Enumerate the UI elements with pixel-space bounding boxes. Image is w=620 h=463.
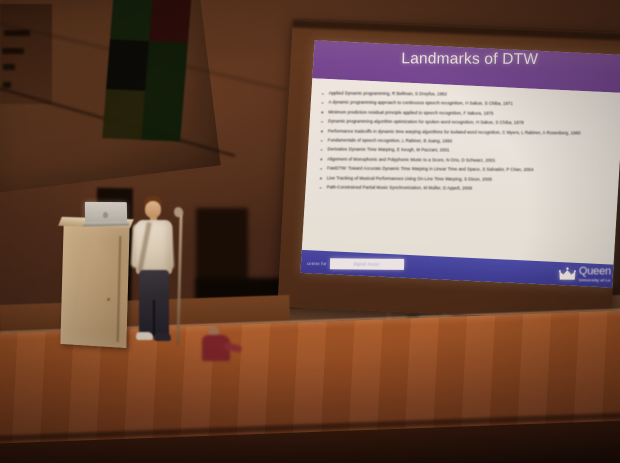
- list-item: A dynamic programming approach to contin…: [318, 100, 618, 108]
- slide-title: Landmarks of DTW: [313, 50, 620, 70]
- crown-icon: [559, 267, 576, 280]
- banner-tile: [141, 91, 184, 142]
- centre-for-digital-music-logo: centre for digital music: [307, 258, 404, 270]
- list-item: Fundamentals of speech recognition, L Ra…: [318, 137, 618, 145]
- slide-body: Applied Dynamic programming, R Bellman, …: [302, 78, 620, 264]
- list-item: Live Tracking of Musical Performances Us…: [317, 175, 617, 183]
- speaker-left-shoe: [136, 332, 153, 340]
- apple-logo-icon: [103, 212, 108, 218]
- organisation-subtitle: University of Lo: [579, 278, 611, 282]
- banner-tile: [145, 41, 188, 92]
- presentation-slide: Landmarks of DTW Applied Dynamic program…: [300, 40, 620, 287]
- lectern-knob: [107, 298, 110, 301]
- wall-poster: [0, 4, 52, 104]
- seated-attendee: [200, 326, 242, 368]
- speaker: [128, 196, 178, 348]
- checker-banner: [102, 0, 192, 142]
- list-item: Applied Dynamic programming, R Bellman, …: [319, 90, 619, 98]
- list-item: Dynamic programming algorithm optimizati…: [318, 119, 618, 127]
- centre-for-label: centre for: [307, 261, 327, 266]
- queen-mary-wordmark: Queen University of Lo: [579, 266, 611, 282]
- banner-tile: [110, 0, 153, 41]
- slide-bullet-list: Applied Dynamic programming, R Bellman, …: [317, 90, 619, 192]
- banner-tile: [149, 0, 192, 43]
- list-item: Performance tradeoffs in dynamic time wa…: [318, 128, 618, 136]
- speaker-trouser-seam: [153, 300, 155, 338]
- banner-tile: [102, 89, 145, 140]
- list-item: Path-Constrained Partial Music Synchroni…: [317, 184, 617, 192]
- list-item: Alignment of Monophonic and Polyphonic M…: [317, 156, 617, 164]
- organisation-name: Queen: [579, 266, 611, 277]
- macbook-base: [83, 222, 129, 227]
- centre-name-label: digital music: [354, 261, 380, 266]
- queen-mary-logo: Queen University of Lo: [559, 266, 611, 282]
- speaker-right-shoe: [154, 333, 171, 341]
- centre-name-box: digital music: [330, 258, 404, 270]
- list-item: Derivative Dynamic Time Warping, E Keogh…: [317, 147, 617, 155]
- conference-talk-photograph: Landmarks of DTW Applied Dynamic program…: [0, 0, 620, 463]
- banner-tile: [106, 40, 149, 91]
- projection-screen: Landmarks of DTW Applied Dynamic program…: [277, 20, 620, 321]
- list-item: Minimum prediction residual principle ap…: [318, 109, 618, 117]
- list-item: FastDTW: Toward Accurate Dynamic Time Wa…: [317, 165, 617, 173]
